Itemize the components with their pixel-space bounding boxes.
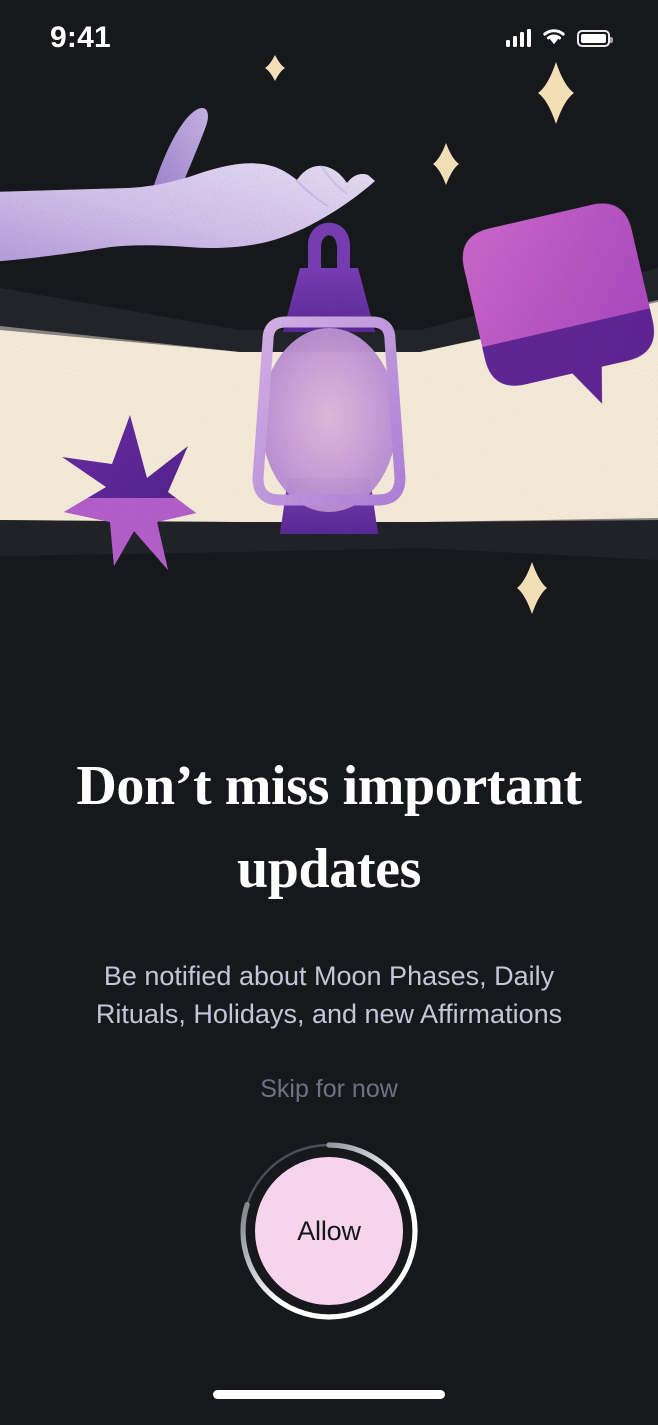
home-indicator[interactable] bbox=[213, 1390, 445, 1399]
status-time: 9:41 bbox=[50, 23, 111, 53]
page-subtitle: Be notified about Moon Phases, Daily Rit… bbox=[0, 957, 658, 1034]
wifi-icon bbox=[540, 26, 568, 51]
status-indicators bbox=[506, 26, 611, 51]
copy-block: Don’t miss important updates Be notified… bbox=[0, 745, 658, 1104]
skip-for-now-link[interactable]: Skip for now bbox=[260, 1075, 398, 1104]
status-bar: 9:41 bbox=[0, 0, 658, 70]
page-title: Don’t miss important updates bbox=[0, 745, 658, 911]
cellular-signal-icon bbox=[506, 29, 532, 47]
battery-icon bbox=[577, 30, 610, 47]
allow-button-container: Allow bbox=[238, 1140, 420, 1322]
hand-holding-lantern-illustration bbox=[0, 0, 658, 660]
notification-permission-screen: 9:41 bbox=[0, 0, 658, 1425]
allow-button[interactable]: Allow bbox=[255, 1157, 403, 1305]
